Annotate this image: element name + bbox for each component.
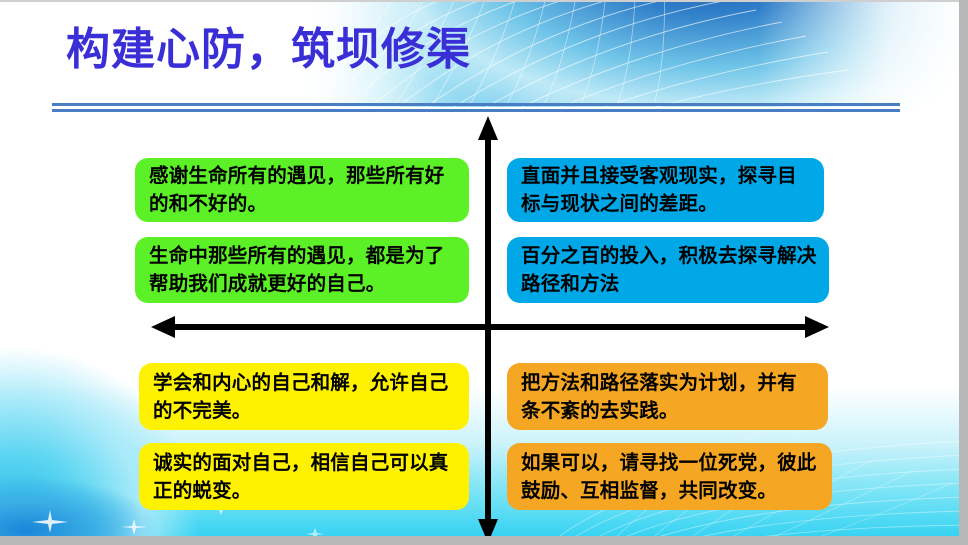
quadrant-box-top-right-2[interactable]: 百分之百的投入，积极去探寻解决路径和方法: [507, 237, 829, 303]
slide-canvas: 构建心防，筑坝修渠 感谢生命所有的遇见，那些所有好的和不好的。 生命中那些所有的…: [0, 0, 968, 545]
header-band-right-fade: [758, 0, 968, 108]
quadrant-box-text: 直面并且接受客观现实，探寻目标与现状之间的差距。: [521, 162, 812, 217]
quadrant-box-text: 如果可以，请寻找一位死党，彼此鼓励、互相监督，共同改变。: [521, 449, 820, 504]
quadrant-box-bottom-right-1[interactable]: 把方法和路径落实为计划，并有条不紊的去实践。: [507, 363, 828, 430]
divider-line-bottom: [52, 109, 900, 112]
quadrant-box-text: 生命中那些所有的遇见，都是为了帮助我们成就更好的自己。: [149, 242, 457, 297]
sparkle-icon: [30, 508, 70, 534]
page-title: 构建心防，筑坝修渠: [66, 28, 471, 72]
quadrant-box-text: 学会和内心的自己和解，允许自己的不完美。: [153, 369, 457, 424]
quadrant-box-bottom-left-2[interactable]: 诚实的面对自己，相信自己可以真正的蜕变。: [139, 443, 469, 510]
quadrant-box-top-right-1[interactable]: 直面并且接受客观现实，探寻目标与现状之间的差距。: [507, 158, 824, 222]
slide-frame-top: [0, 0, 968, 2]
quadrant-box-text: 把方法和路径落实为计划，并有条不紊的去实践。: [521, 369, 816, 424]
slide-frame-bottom: [0, 536, 968, 545]
sparkle-icon: [120, 518, 148, 536]
slide-frame-right: [959, 0, 968, 545]
quadrant-box-text: 诚实的面对自己，相信自己可以真正的蜕变。: [153, 449, 457, 504]
quadrant-box-bottom-left-1[interactable]: 学会和内心的自己和解，允许自己的不完美。: [139, 363, 469, 430]
quadrant-box-top-left-1[interactable]: 感谢生命所有的遇见，那些所有好的和不好的。: [135, 158, 469, 222]
quadrant-box-top-left-2[interactable]: 生命中那些所有的遇见，都是为了帮助我们成就更好的自己。: [135, 237, 469, 303]
quadrant-box-text: 感谢生命所有的遇见，那些所有好的和不好的。: [149, 162, 457, 217]
quadrant-box-bottom-right-2[interactable]: 如果可以，请寻找一位死党，彼此鼓励、互相监督，共同改变。: [507, 443, 832, 510]
divider-line-top: [52, 103, 900, 106]
title-divider: [52, 103, 900, 113]
quadrant-box-text: 百分之百的投入，积极去探寻解决路径和方法: [521, 242, 817, 297]
